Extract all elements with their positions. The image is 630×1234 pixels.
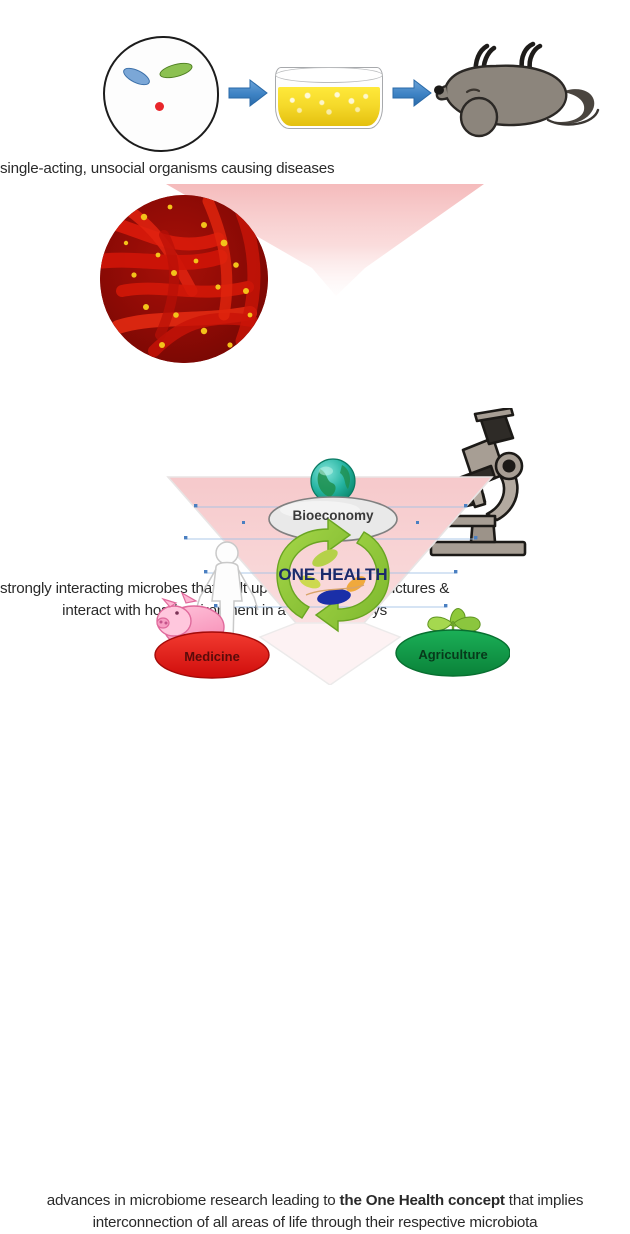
medicine-label: Medicine — [184, 649, 240, 664]
dish-growth-medium — [278, 87, 380, 126]
panel-three-caption: advances in microbiome research leading … — [15, 1190, 615, 1234]
panel-one-health-concept: ONE HEALTH Medic — [0, 455, 630, 715]
colony-green-icon — [158, 60, 194, 81]
arrow-right-2-icon — [392, 78, 432, 108]
one-health-svg: ONE HEALTH Medic — [150, 455, 510, 685]
agar-plate-with-colonies — [103, 36, 219, 152]
colony-blue-icon — [121, 64, 153, 88]
panel-single-acting-organisms: single-acting, unsocial organisms causin… — [0, 0, 630, 190]
panel-one-caption: single-acting, unsocial organisms causin… — [0, 158, 334, 180]
one-health-diagram: ONE HEALTH Medic — [150, 455, 510, 685]
panel-three-caption-part-1: advances in microbiome research leading … — [47, 1192, 340, 1209]
dish-rim — [275, 67, 383, 83]
colony-red-icon — [155, 102, 164, 111]
agriculture-label: Agriculture — [418, 647, 487, 662]
micrograph-red-biofilm — [100, 195, 268, 363]
medicine-node: Medicine — [155, 632, 269, 678]
panel-interacting-microbes: strongly interacting microbes that built… — [0, 190, 630, 450]
panel-one-illustration-row — [0, 14, 630, 144]
arrow-right-1-icon — [228, 78, 268, 108]
laboratory-mouse-icon — [430, 30, 610, 150]
panel-three-caption-bold: the One Health concept — [340, 1192, 505, 1209]
agriculture-node: Agriculture — [396, 630, 510, 676]
one-health-label: ONE HEALTH — [278, 565, 387, 584]
culture-dish — [275, 67, 383, 129]
